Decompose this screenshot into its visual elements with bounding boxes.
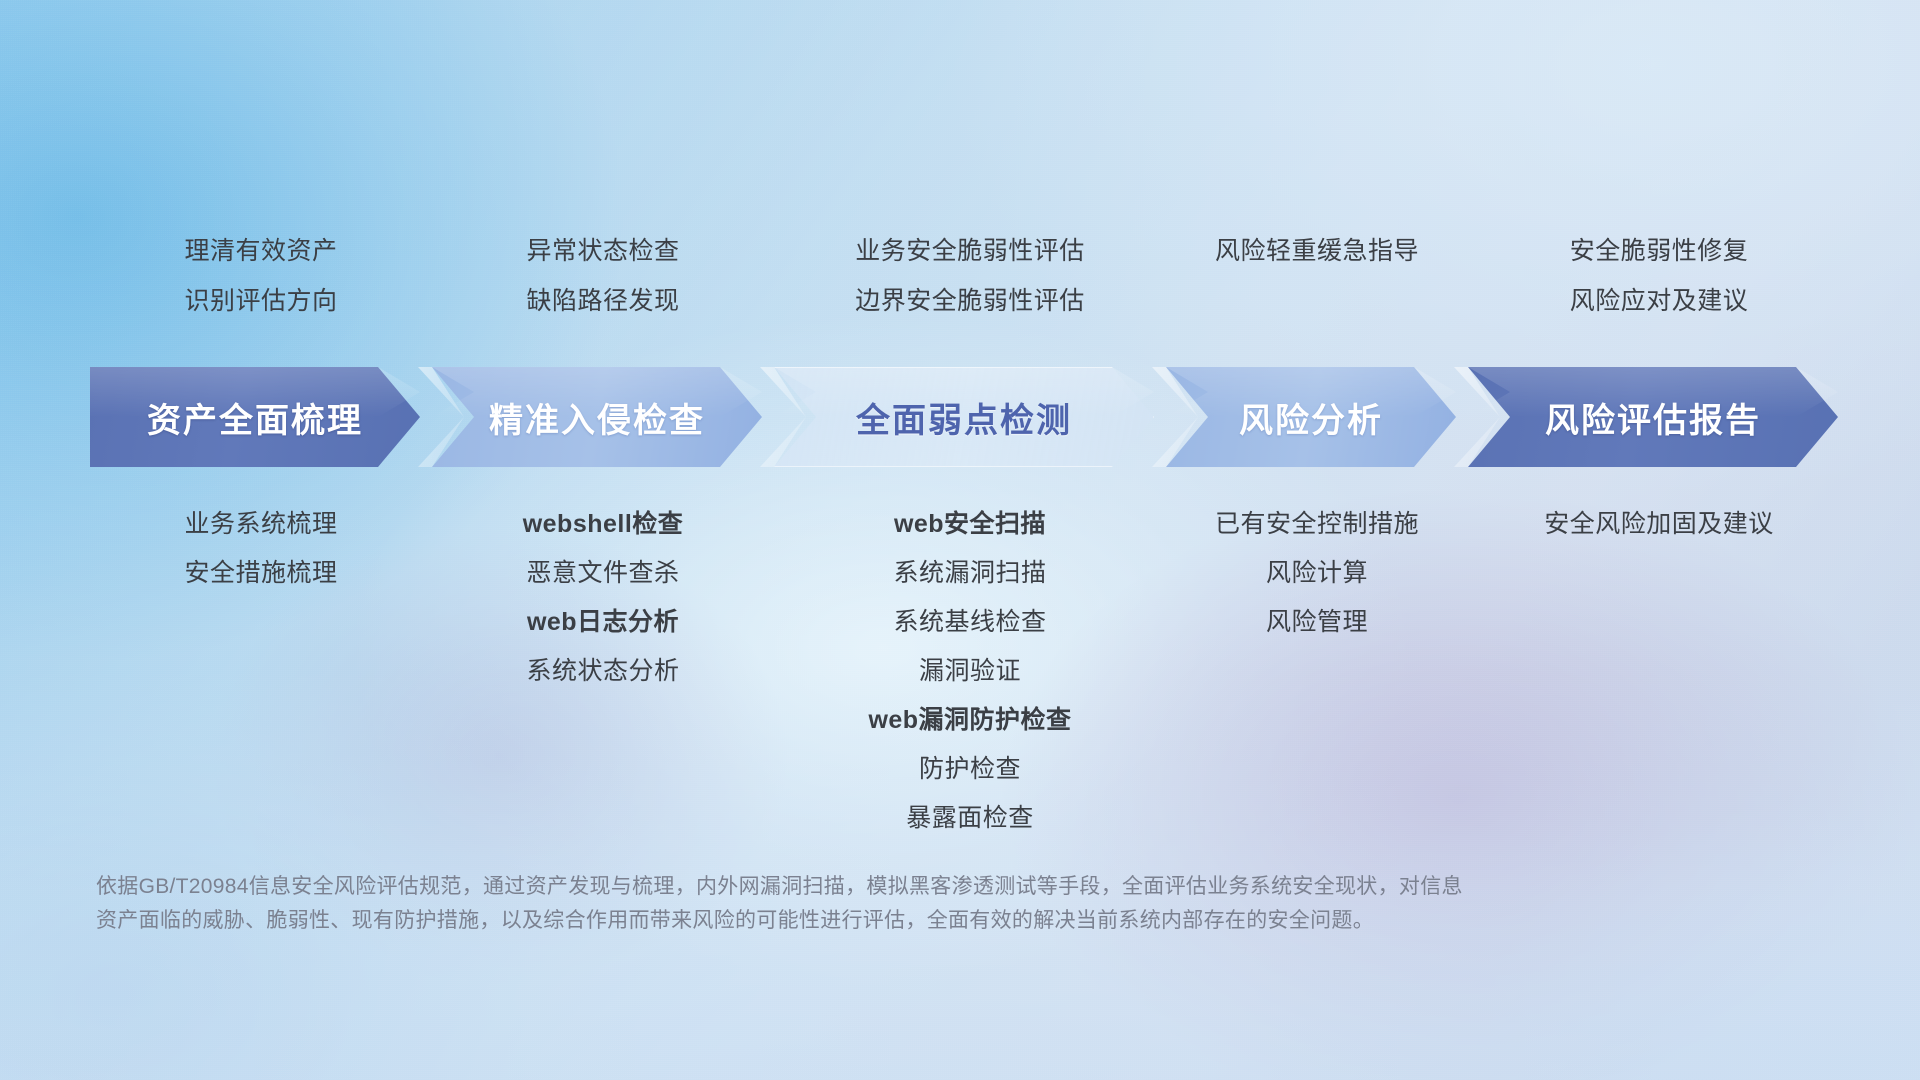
activity-item: web日志分析: [432, 598, 774, 647]
activity-item: 已有安全控制措施: [1166, 500, 1468, 549]
activity-item: web安全扫描: [774, 500, 1166, 549]
activity-item: 防护检查: [774, 745, 1166, 794]
stage-activities-risk-analysis: 已有安全控制措施风险计算风险管理: [1166, 500, 1468, 647]
stage-title: 风险评估报告: [1545, 393, 1761, 442]
stage-title: 风险分析: [1239, 393, 1383, 442]
activity-item-label: webshell检查: [523, 510, 684, 538]
activity-item: webshell检查: [432, 500, 774, 549]
stage-outcomes-intrusion-check: 异常状态检查缺陷路径发现: [432, 226, 774, 326]
activity-item: 业务系统梳理: [90, 500, 432, 549]
outcome-item: 识别评估方向: [90, 276, 432, 326]
activity-item: 漏洞验证: [774, 647, 1166, 696]
outcome-item: 边界安全脆弱性评估: [774, 276, 1166, 326]
footer-line-1: 依据GB/T20984信息安全风险评估规范，通过资产发现与梳理，内外网漏洞扫描，…: [96, 870, 1696, 904]
activity-item: 风险计算: [1166, 549, 1468, 598]
activity-item: 安全风险加固及建议: [1468, 500, 1850, 549]
activity-item: 风险管理: [1166, 598, 1468, 647]
footer-description: 依据GB/T20984信息安全风险评估规范，通过资产发现与梳理，内外网漏洞扫描，…: [96, 870, 1696, 938]
process-flow-diagram: 理清有效资产识别评估方向异常状态检查缺陷路径发现业务安全脆弱性评估边界安全脆弱性…: [0, 0, 1920, 1080]
activity-item-label: web安全扫描: [894, 510, 1046, 538]
stage-outcomes-risk-report: 安全脆弱性修复风险应对及建议: [1468, 226, 1850, 326]
activity-item: web漏洞防护检查: [774, 696, 1166, 745]
stage-outcomes-risk-analysis: 风险轻重缓急指导: [1166, 226, 1468, 326]
outcome-item: 理清有效资产: [90, 226, 432, 276]
activity-item: 安全措施梳理: [90, 549, 432, 598]
stage-activities-risk-report: 安全风险加固及建议: [1468, 500, 1850, 549]
outcome-item: 风险应对及建议: [1468, 276, 1850, 326]
outcome-item: 业务安全脆弱性评估: [774, 226, 1166, 276]
activity-item-label: web日志分析: [527, 608, 679, 636]
outcome-item: 风险轻重缓急指导: [1166, 226, 1468, 276]
stage-activities-weakness-detection: web安全扫描系统漏洞扫描系统基线检查漏洞验证web漏洞防护检查防护检查暴露面检…: [774, 500, 1166, 843]
activity-item: 系统漏洞扫描: [774, 549, 1166, 598]
activity-item: 恶意文件查杀: [432, 549, 774, 598]
activity-item: 系统基线检查: [774, 598, 1166, 647]
outcome-item: 异常状态检查: [432, 226, 774, 276]
stage-title: 资产全面梳理: [147, 393, 363, 442]
stage-arrow-banner: 资产全面梳理精准入侵检查全面弱点检测风险分析风险评估报告: [90, 367, 1832, 467]
activity-item: 系统状态分析: [432, 647, 774, 696]
stage-arrow-risk-analysis[interactable]: 风险分析: [1166, 367, 1456, 467]
activity-item: 暴露面检查: [774, 794, 1166, 843]
stage-arrow-weakness-detection[interactable]: 全面弱点检测: [774, 367, 1154, 467]
stage-arrow-risk-report[interactable]: 风险评估报告: [1468, 367, 1838, 467]
stage-activities-intrusion-check: webshell检查恶意文件查杀web日志分析系统状态分析: [432, 500, 774, 696]
footer-line-2: 资产面临的威胁、脆弱性、现有防护措施，以及综合作用而带来风险的可能性进行评估，全…: [96, 904, 1696, 938]
stage-outcomes-row: 理清有效资产识别评估方向异常状态检查缺陷路径发现业务安全脆弱性评估边界安全脆弱性…: [90, 226, 1830, 326]
stage-title: 全面弱点检测: [856, 393, 1072, 442]
stage-outcomes-weakness-detection: 业务安全脆弱性评估边界安全脆弱性评估: [774, 226, 1166, 326]
stage-arrow-asset-inventory[interactable]: 资产全面梳理: [90, 367, 420, 467]
stage-activities-row: 业务系统梳理安全措施梳理webshell检查恶意文件查杀web日志分析系统状态分…: [90, 500, 1830, 843]
stage-arrow-intrusion-check[interactable]: 精准入侵检查: [432, 367, 762, 467]
outcome-item: 缺陷路径发现: [432, 276, 774, 326]
stage-activities-asset-inventory: 业务系统梳理安全措施梳理: [90, 500, 432, 598]
activity-item-label: web漏洞防护检查: [868, 706, 1071, 734]
outcome-item: 安全脆弱性修复: [1468, 226, 1850, 276]
stage-outcomes-asset-inventory: 理清有效资产识别评估方向: [90, 226, 432, 326]
stage-title: 精准入侵检查: [489, 393, 705, 442]
